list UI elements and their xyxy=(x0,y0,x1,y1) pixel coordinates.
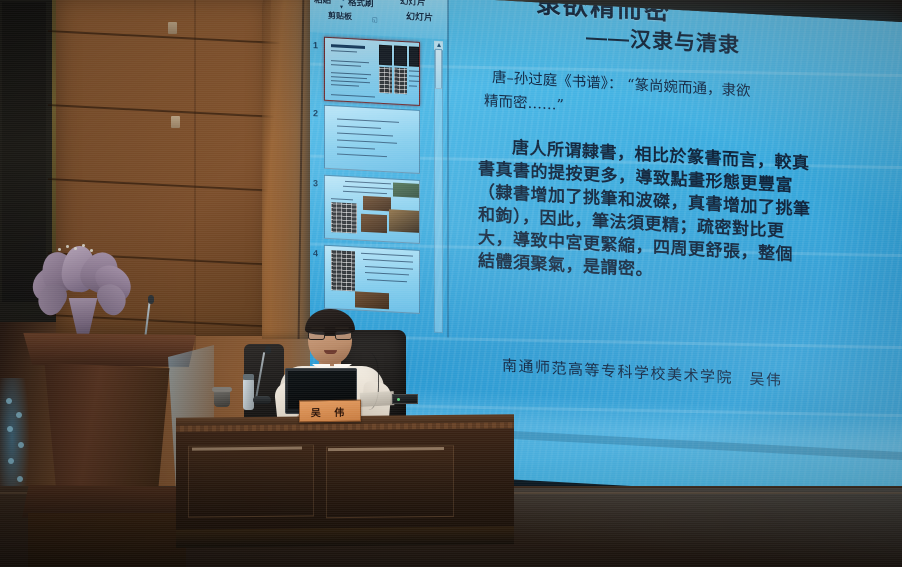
presenter-mouth xyxy=(324,350,337,354)
wall-plate-lower xyxy=(171,116,180,128)
name-plate-text: 吴 伟 xyxy=(311,403,349,419)
eyeglass-lens-left xyxy=(308,331,325,340)
wall-plate-upper xyxy=(168,22,177,34)
conference-table-front xyxy=(176,428,514,536)
desk-microphone-base xyxy=(253,396,271,404)
lectern-body xyxy=(36,363,178,491)
conference-table-skirt xyxy=(176,526,514,548)
remote-clicker xyxy=(392,394,418,404)
eyeglass-lens-right xyxy=(335,331,352,340)
desk-microphone-head xyxy=(265,346,271,354)
lecture-hall-photo: 粘贴 ▾ 格式刷 剪贴板 ◱ 幻灯片 幻灯片 1 xyxy=(0,0,902,567)
lectern-plinth xyxy=(28,513,186,567)
cup xyxy=(214,390,230,407)
water-bottle xyxy=(243,378,254,410)
flower-bouquet xyxy=(28,246,143,342)
eyeglasses xyxy=(308,331,352,340)
lectern xyxy=(18,333,196,567)
name-plate: 吴 伟 xyxy=(299,400,361,423)
papers-on-desk xyxy=(360,391,395,407)
cup-lid xyxy=(212,387,232,392)
eyeglass-bridge xyxy=(325,335,335,336)
lectern-microphone-head xyxy=(148,295,154,304)
water-bottle-cap xyxy=(243,374,254,380)
